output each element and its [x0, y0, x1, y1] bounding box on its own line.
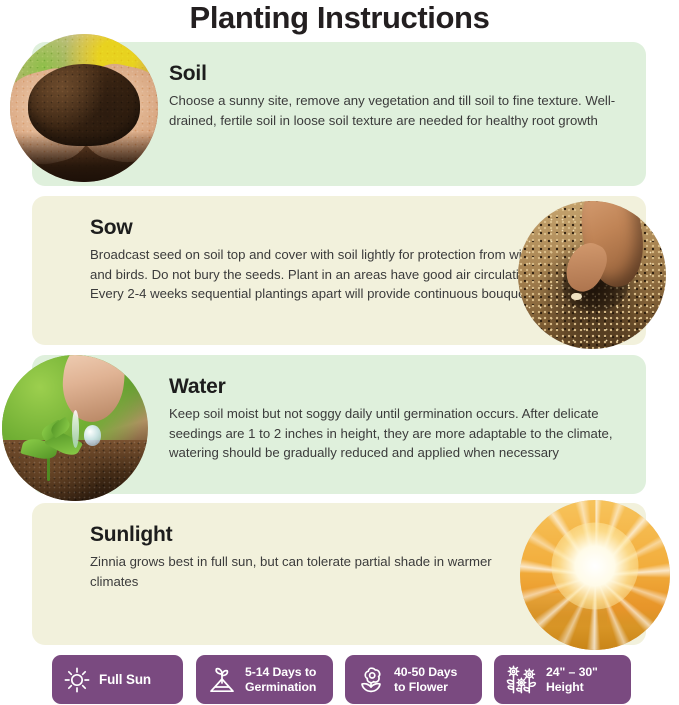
planting-instructions-infographic: Planting Instructions Soil Choose a sunn…	[0, 0, 679, 705]
badge-germination-label: 5-14 Days to Germination	[245, 665, 316, 695]
card-sunlight-heading: Sunlight	[90, 522, 542, 547]
badge-height[interactable]: 24" – 30" Height	[494, 655, 631, 704]
card-sunlight-body: Zinnia grows best in full sun, but can t…	[90, 552, 542, 591]
badge-height-label: 24" – 30" Height	[546, 665, 598, 695]
flower-icon	[356, 665, 386, 695]
flower-group-icon	[505, 665, 538, 695]
sun-icon	[63, 666, 91, 694]
badge-germination[interactable]: 5-14 Days to Germination	[196, 655, 333, 704]
card-water-text: Water Keep soil moist but not soggy dail…	[169, 374, 621, 463]
card-sow-body: Broadcast seed on soil top and cover wit…	[90, 245, 542, 304]
badge-full-sun[interactable]: Full Sun	[52, 655, 183, 704]
hand-sowing-seeds-photo	[518, 201, 666, 349]
card-sow-heading: Sow	[90, 215, 542, 240]
card-water-body: Keep soil moist but not soggy daily unti…	[169, 404, 621, 463]
sow-seed	[571, 293, 581, 300]
soil-shadow-overlay	[10, 132, 158, 182]
hand-watering-seedling-photo	[2, 355, 148, 501]
card-soil-body: Choose a sunny site, remove any vegetati…	[169, 91, 621, 130]
card-soil-heading: Soil	[169, 61, 621, 86]
badge-flower-label: 40-50 Days to Flower	[394, 665, 457, 695]
sun-burst-photo	[520, 500, 670, 650]
page-title: Planting Instructions	[0, 0, 679, 38]
water-droplet	[84, 425, 102, 445]
badge-flower[interactable]: 40-50 Days to Flower	[345, 655, 482, 704]
badge-full-sun-label: Full Sun	[99, 672, 151, 687]
card-sow-text: Sow Broadcast seed on soil top and cover…	[90, 215, 542, 304]
card-sunlight-text: Sunlight Zinnia grows best in full sun, …	[90, 522, 542, 591]
sun-core-glow	[552, 523, 639, 610]
sprout-icon	[207, 665, 237, 695]
hands-holding-soil-photo	[10, 34, 158, 182]
card-soil-text: Soil Choose a sunny site, remove any veg…	[169, 61, 621, 130]
card-water-heading: Water	[169, 374, 621, 399]
